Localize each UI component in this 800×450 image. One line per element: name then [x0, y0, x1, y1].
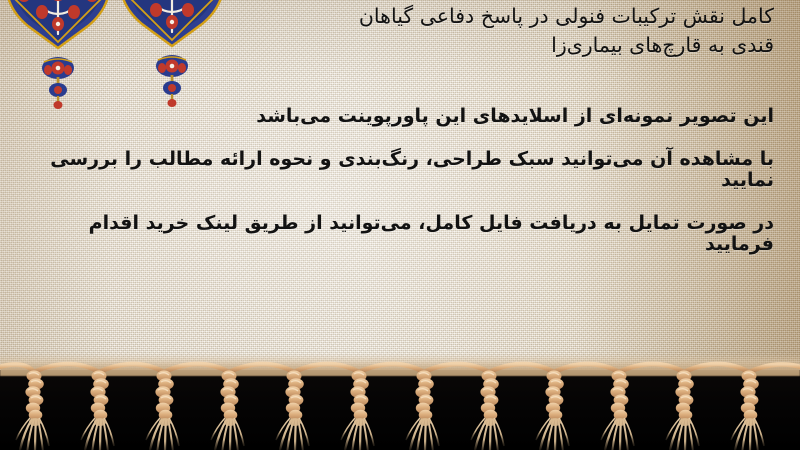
slide-title-line-1: کامل نقش ترکیبات فنولی در پاسخ دفاعی گیا… — [254, 2, 774, 31]
tassel — [666, 371, 699, 450]
slide-body-line-2: با مشاهده آن می‌توانید سبک طراحی، رنگ‌بن… — [14, 149, 774, 191]
tassel — [211, 371, 244, 450]
slide-body-line-1: این تصویر نمونه‌ای از اسلایدهای این پاور… — [14, 106, 774, 127]
tassel — [146, 371, 179, 450]
tassel — [81, 371, 114, 450]
slide-body: این تصویر نمونه‌ای از اسلایدهای این پاور… — [14, 106, 774, 277]
tassel — [471, 371, 504, 450]
presentation-slide: کامل نقش ترکیبات فنولی در پاسخ دفاعی گیا… — [0, 0, 800, 450]
tassel — [341, 371, 374, 450]
slide-body-line-3: در صورت تمایل به دریافت فایل کامل، می‌تو… — [14, 213, 774, 255]
tassel — [16, 371, 49, 450]
tassel — [536, 371, 569, 450]
slide-title: کامل نقش ترکیبات فنولی در پاسخ دفاعی گیا… — [254, 2, 774, 60]
slide-title-line-2: قندی به قارچ‌های بیماری‌زا — [254, 31, 774, 60]
tassel — [601, 371, 634, 450]
fringe-warp-threads — [0, 364, 800, 372]
tassel — [406, 371, 439, 450]
carpet-fringe-tassels — [0, 356, 800, 450]
tassel — [731, 371, 764, 450]
tassel — [276, 371, 309, 450]
bottom-black-band — [0, 370, 800, 450]
